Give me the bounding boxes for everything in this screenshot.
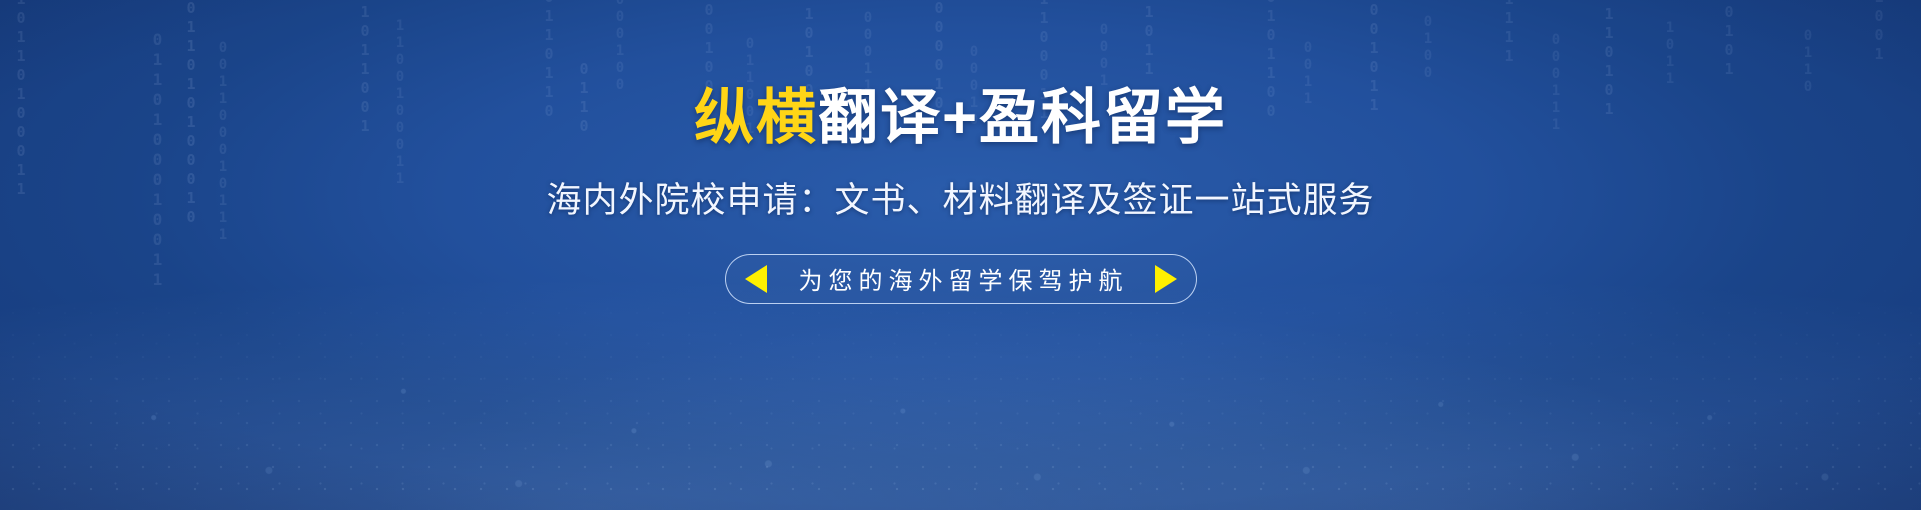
cta-pill-button[interactable]: 为您的海外留学保驾护航 <box>725 254 1197 304</box>
headline-plus-symbol: + <box>942 84 979 151</box>
left-triangle-icon <box>745 265 767 293</box>
headline-accent-text: 纵横 <box>694 84 818 151</box>
banner-headline: 纵横翻译+盈科留学 <box>694 88 1227 148</box>
banner-subtitle: 海内外院校申请：文书、材料翻译及签证一站式服务 <box>546 182 1374 221</box>
headline-tail-text: 盈科留学 <box>979 84 1227 151</box>
cta-label: 为您的海外留学保驾护航 <box>793 261 1129 296</box>
headline-rest-text: 翻译 <box>818 84 942 151</box>
banner-content: 纵横翻译+盈科留学 海内外院校申请：文书、材料翻译及签证一站式服务 为您的海外留… <box>0 0 1921 510</box>
promo-banner: 1011010001101101000100111011010100010001… <box>0 0 1921 510</box>
right-triangle-icon <box>1155 265 1177 293</box>
